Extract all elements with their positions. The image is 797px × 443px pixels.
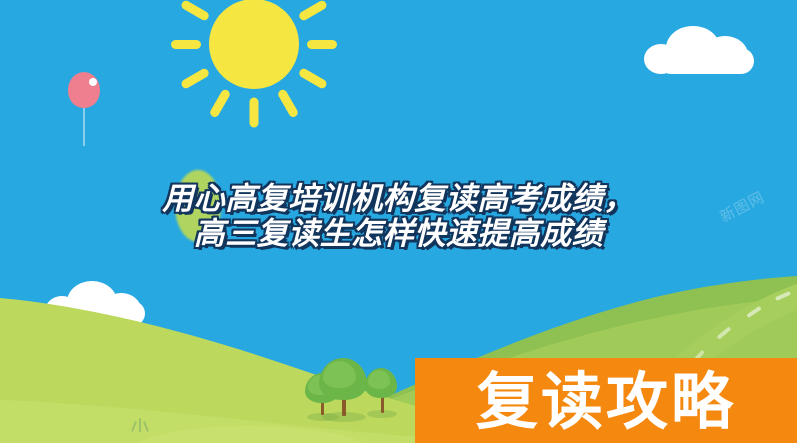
banner-strip: 复读攻略 [415,358,797,443]
poster-canvas: 用心高复培训机构复读高考成绩， 高三复读生怎样快速提高成绩 新图网 复读攻略 [0,0,797,443]
title-line-2: 高三复读生怎样快速提高成绩 [0,217,797,252]
grass-tuft [133,418,153,432]
title-line-1: 用心高复培训机构复读高考成绩， [0,182,797,217]
banner-label: 复读攻略 [415,360,797,443]
poster-title: 用心高复培训机构复读高考成绩， 高三复读生怎样快速提高成绩 [0,182,797,251]
tree-mid-large [319,358,369,420]
tree-mid-small [365,368,399,416]
